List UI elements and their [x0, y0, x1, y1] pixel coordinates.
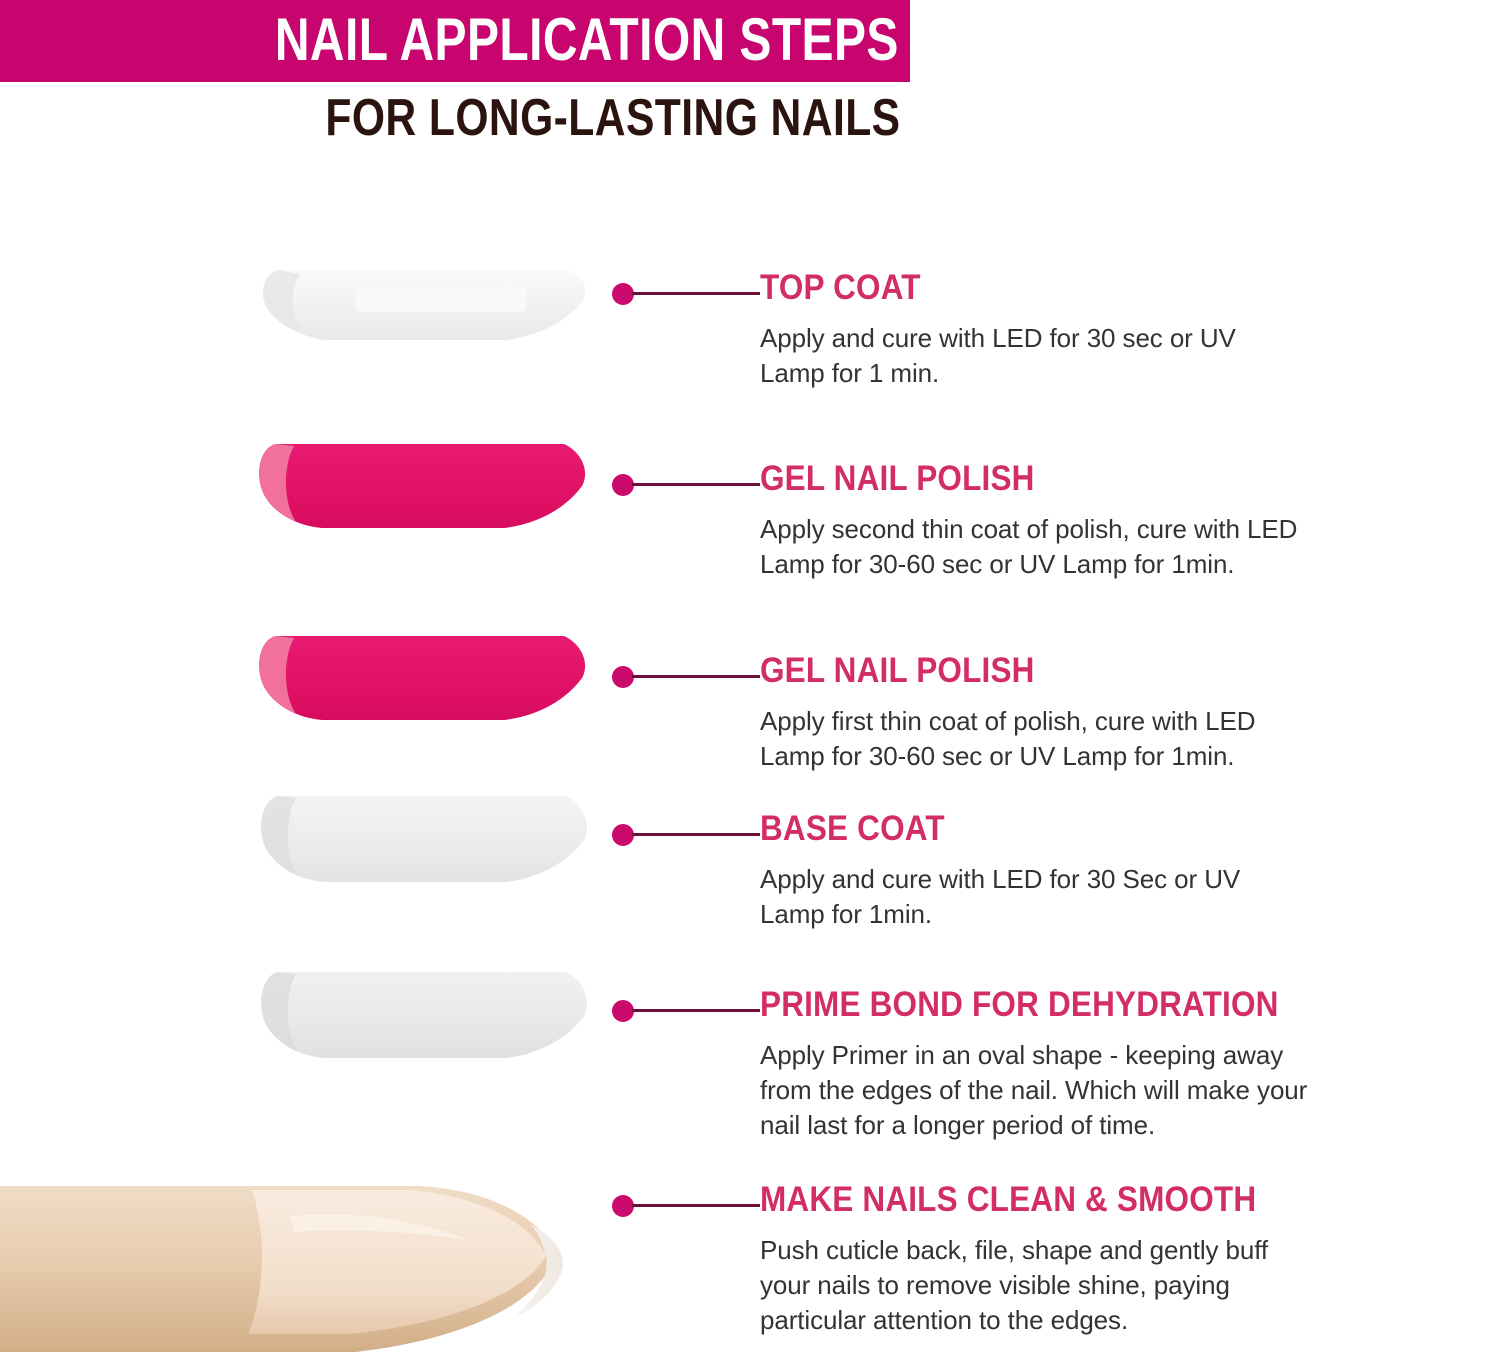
step-clean-smooth: MAKE NAILS CLEAN & SMOOTH Push cuticle b… — [612, 1193, 1420, 1338]
bullet-dot-icon — [612, 1000, 634, 1022]
body-line: Apply second thin coat of polish, cure w… — [760, 512, 1420, 547]
bullet-dot-icon — [612, 283, 634, 305]
step-top-coat: TOP COAT Apply and cure with LED for 30 … — [612, 281, 1420, 391]
connector-line — [632, 833, 760, 836]
finger-nail-illustration-art — [0, 1128, 610, 1367]
body-line: Lamp for 1 min. — [760, 356, 1420, 391]
connector-line — [632, 483, 760, 486]
connector-line — [632, 1204, 760, 1207]
step-prime-bond: PRIME BOND FOR DEHYDRATION Apply Primer … — [612, 998, 1420, 1143]
body-line: Lamp for 1min. — [760, 897, 1420, 932]
top-coat-layer-art — [248, 236, 598, 356]
step-marker-row: GEL NAIL POLISH — [612, 664, 1420, 690]
bullet-dot-icon — [612, 824, 634, 846]
bullet-dot-icon — [612, 666, 634, 688]
body-line: your nails to remove visible shine, payi… — [760, 1268, 1420, 1303]
page-title: NAIL APPLICATION STEPS — [182, 0, 910, 82]
page-subtitle: FOR LONG-LASTING NAILS — [164, 88, 912, 148]
body-line: Push cuticle back, file, shape and gentl… — [760, 1233, 1420, 1268]
body-line: Lamp for 30-60 sec or UV Lamp for 1min. — [760, 739, 1420, 774]
body-line: Apply and cure with LED for 30 sec or UV — [760, 321, 1420, 356]
step-title-clean-smooth: MAKE NAILS CLEAN & SMOOTH — [760, 1180, 1256, 1220]
step-title-top-coat: TOP COAT — [760, 268, 921, 308]
step-body-gel-polish-second: Apply second thin coat of polish, cure w… — [760, 512, 1420, 582]
body-line: nail last for a longer period of time. — [760, 1108, 1420, 1143]
step-marker-row: GEL NAIL POLISH — [612, 472, 1420, 498]
step-body-clean-smooth: Push cuticle back, file, shape and gentl… — [760, 1233, 1420, 1338]
body-line: particular attention to the edges. — [760, 1303, 1420, 1338]
body-line: Apply first thin coat of polish, cure wi… — [760, 704, 1420, 739]
bullet-dot-icon — [612, 474, 634, 496]
step-title-gel-polish-second: GEL NAIL POLISH — [760, 459, 1035, 499]
connector-line — [632, 675, 760, 678]
infographic-page: NAIL APPLICATION STEPS FOR LONG-LASTING … — [0, 0, 1500, 1367]
step-marker-row: TOP COAT — [612, 281, 1420, 307]
body-line: Lamp for 30-60 sec or UV Lamp for 1min. — [760, 547, 1420, 582]
step-marker-row: BASE COAT — [612, 822, 1420, 848]
bullet-dot-icon — [612, 1195, 634, 1217]
connector-line — [632, 292, 760, 295]
step-body-base-coat: Apply and cure with LED for 30 Sec or UV… — [760, 862, 1420, 932]
base-coat-layer-art — [248, 782, 598, 897]
gel-polish-layer-art-second — [248, 430, 598, 540]
step-gel-polish-second: GEL NAIL POLISH Apply second thin coat o… — [612, 472, 1420, 582]
step-body-gel-polish-first: Apply first thin coat of polish, cure wi… — [760, 704, 1420, 774]
body-line: from the edges of the nail. Which will m… — [760, 1073, 1420, 1108]
step-title-prime-bond: PRIME BOND FOR DEHYDRATION — [760, 985, 1279, 1025]
step-base-coat: BASE COAT Apply and cure with LED for 30… — [612, 822, 1420, 932]
gel-polish-layer-art-first — [248, 622, 598, 732]
primer-layer-art — [248, 960, 598, 1075]
step-body-prime-bond: Apply Primer in an oval shape - keeping … — [760, 1038, 1420, 1143]
connector-line — [632, 1009, 760, 1012]
step-marker-row: MAKE NAILS CLEAN & SMOOTH — [612, 1193, 1420, 1219]
step-marker-row: PRIME BOND FOR DEHYDRATION — [612, 998, 1420, 1024]
step-title-base-coat: BASE COAT — [760, 809, 945, 849]
body-line: Apply Primer in an oval shape - keeping … — [760, 1038, 1420, 1073]
step-body-top-coat: Apply and cure with LED for 30 sec or UV… — [760, 321, 1420, 391]
body-line: Apply and cure with LED for 30 Sec or UV — [760, 862, 1420, 897]
step-title-gel-polish-first: GEL NAIL POLISH — [760, 651, 1035, 691]
step-gel-polish-first: GEL NAIL POLISH Apply first thin coat of… — [612, 664, 1420, 774]
